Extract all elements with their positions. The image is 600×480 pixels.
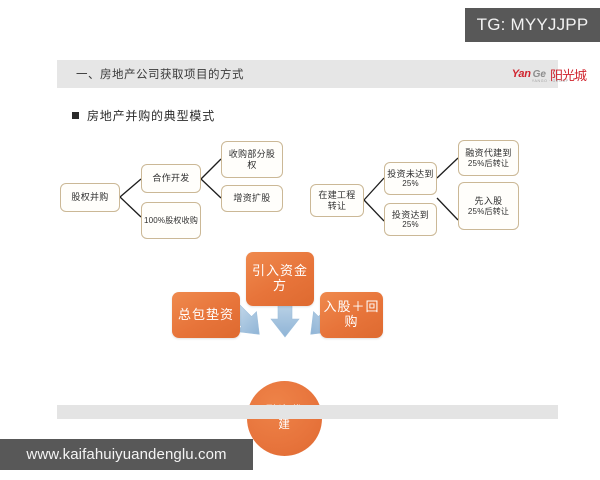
orange-circle-label-line2: 建 xyxy=(278,419,290,433)
flow-box-partial-equity-purchase: 收购部分股 权 xyxy=(221,141,283,178)
connector-left-hezuo-to-shougou xyxy=(201,159,221,179)
orange-box-label-line2: 方 xyxy=(273,279,287,294)
flow-box-label-line2: 25%后转让 xyxy=(468,207,509,216)
orange-diagram-arrows xyxy=(0,45,600,430)
slide-footer-bar xyxy=(57,405,558,419)
flow-box-label: 合作开发 xyxy=(152,173,189,183)
orange-box-label-line2: 购 xyxy=(344,315,358,330)
slide-title-bar: 一、房地产公司获取项目的方式 xyxy=(57,60,558,88)
orange-box-label-line1: 入股＋回 xyxy=(323,300,379,315)
url-watermark-text: www.kaifahuiyuandenglu.com xyxy=(26,446,226,463)
flow-box-full-equity-acquisition: 100%股权收购 xyxy=(141,202,201,239)
flow-box-label-line1: 融资代建到 xyxy=(465,148,512,158)
connector-right-root-to-dadao xyxy=(364,200,384,221)
flow-box-label-line1: 在建工程 xyxy=(318,190,355,200)
url-watermark-badge: www.kaifahuiyuandenglu.com xyxy=(0,439,253,470)
flow-box-label: 100%股权收购 xyxy=(144,216,198,225)
connector-right-dadao-to-xianruqu xyxy=(437,198,458,220)
flow-box-label-line2: 25%后转让 xyxy=(468,159,509,168)
flow-box-cooperative-development: 合作开发 xyxy=(141,164,201,193)
flow-box-equity-first-then-transfer: 先入股 25%后转让 xyxy=(458,182,519,230)
connector-left-hezuo-to-zengzi xyxy=(201,179,221,198)
flow-box-investment-below-25: 投资未达到 25% xyxy=(384,162,437,195)
flow-box-capital-increase: 增资扩股 xyxy=(221,185,283,212)
orange-box-introduce-capital: 引入资金 方 xyxy=(246,252,314,306)
orange-box-equity-plus-buyback: 入股＋回 购 xyxy=(320,292,383,338)
flowchart-connectors xyxy=(0,45,600,430)
connector-left-root-to-hezuo xyxy=(120,179,141,197)
flow-box-label-line2: 权 xyxy=(247,160,256,170)
flow-box-label-line2: 25% xyxy=(402,179,419,188)
connector-right-weida-to-rongzi xyxy=(437,158,458,178)
screenshot-page: TG: MYYJJPP 一、房地产公司获取项目的方式 Yan Ge 阳光城 YA… xyxy=(0,0,600,480)
flow-box-financed-agency-construction: 融资代建到 25%后转让 xyxy=(458,140,519,176)
flow-box-label-line1: 先入股 xyxy=(475,196,503,206)
flow-box-construction-transfer: 在建工程 转让 xyxy=(310,184,364,217)
flow-box-label-line1: 投资达到 xyxy=(392,210,429,220)
slide-canvas: 一、房地产公司获取项目的方式 Yan Ge 阳光城 YANGO · GROUP … xyxy=(0,45,600,430)
connector-left-root-to-100 xyxy=(120,197,141,217)
orange-box-label-line1: 总包垫资 xyxy=(178,308,234,323)
logo-text-ge: Ge xyxy=(533,69,546,80)
orange-box-label-line1: 引入资金 xyxy=(252,264,308,279)
logo-tagline: YANGO · GROUP xyxy=(532,79,569,83)
orange-box-contractor-advance: 总包垫资 xyxy=(172,292,240,338)
flow-box-stock-merger: 股权并购 xyxy=(60,183,120,212)
flow-box-label-line2: 转让 xyxy=(328,201,347,211)
telegram-watermark-badge: TG: MYYJJPP xyxy=(465,8,600,42)
flow-box-label-line1: 投资未达到 xyxy=(387,169,434,179)
yango-logo: Yan Ge 阳光城 YANGO · GROUP xyxy=(512,61,586,87)
flow-box-label-line2: 25% xyxy=(402,220,419,229)
flow-box-investment-reached-25: 投资达到 25% xyxy=(384,203,437,236)
bullet-square-icon xyxy=(72,112,79,119)
flow-box-label: 股权并购 xyxy=(71,192,108,202)
slide-subtitle: 房地产并购的典型模式 xyxy=(72,107,215,124)
connector-right-root-to-weida xyxy=(364,178,384,200)
slide-subtitle-text: 房地产并购的典型模式 xyxy=(87,107,215,124)
telegram-watermark-text: TG: MYYJJPP xyxy=(477,15,589,35)
flow-box-label: 增资扩股 xyxy=(233,193,270,203)
flow-box-label-line1: 收购部分股 xyxy=(229,149,276,159)
page-title: 一、房地产公司获取项目的方式 xyxy=(76,66,244,82)
logo-text-yan: Yan xyxy=(512,68,531,80)
